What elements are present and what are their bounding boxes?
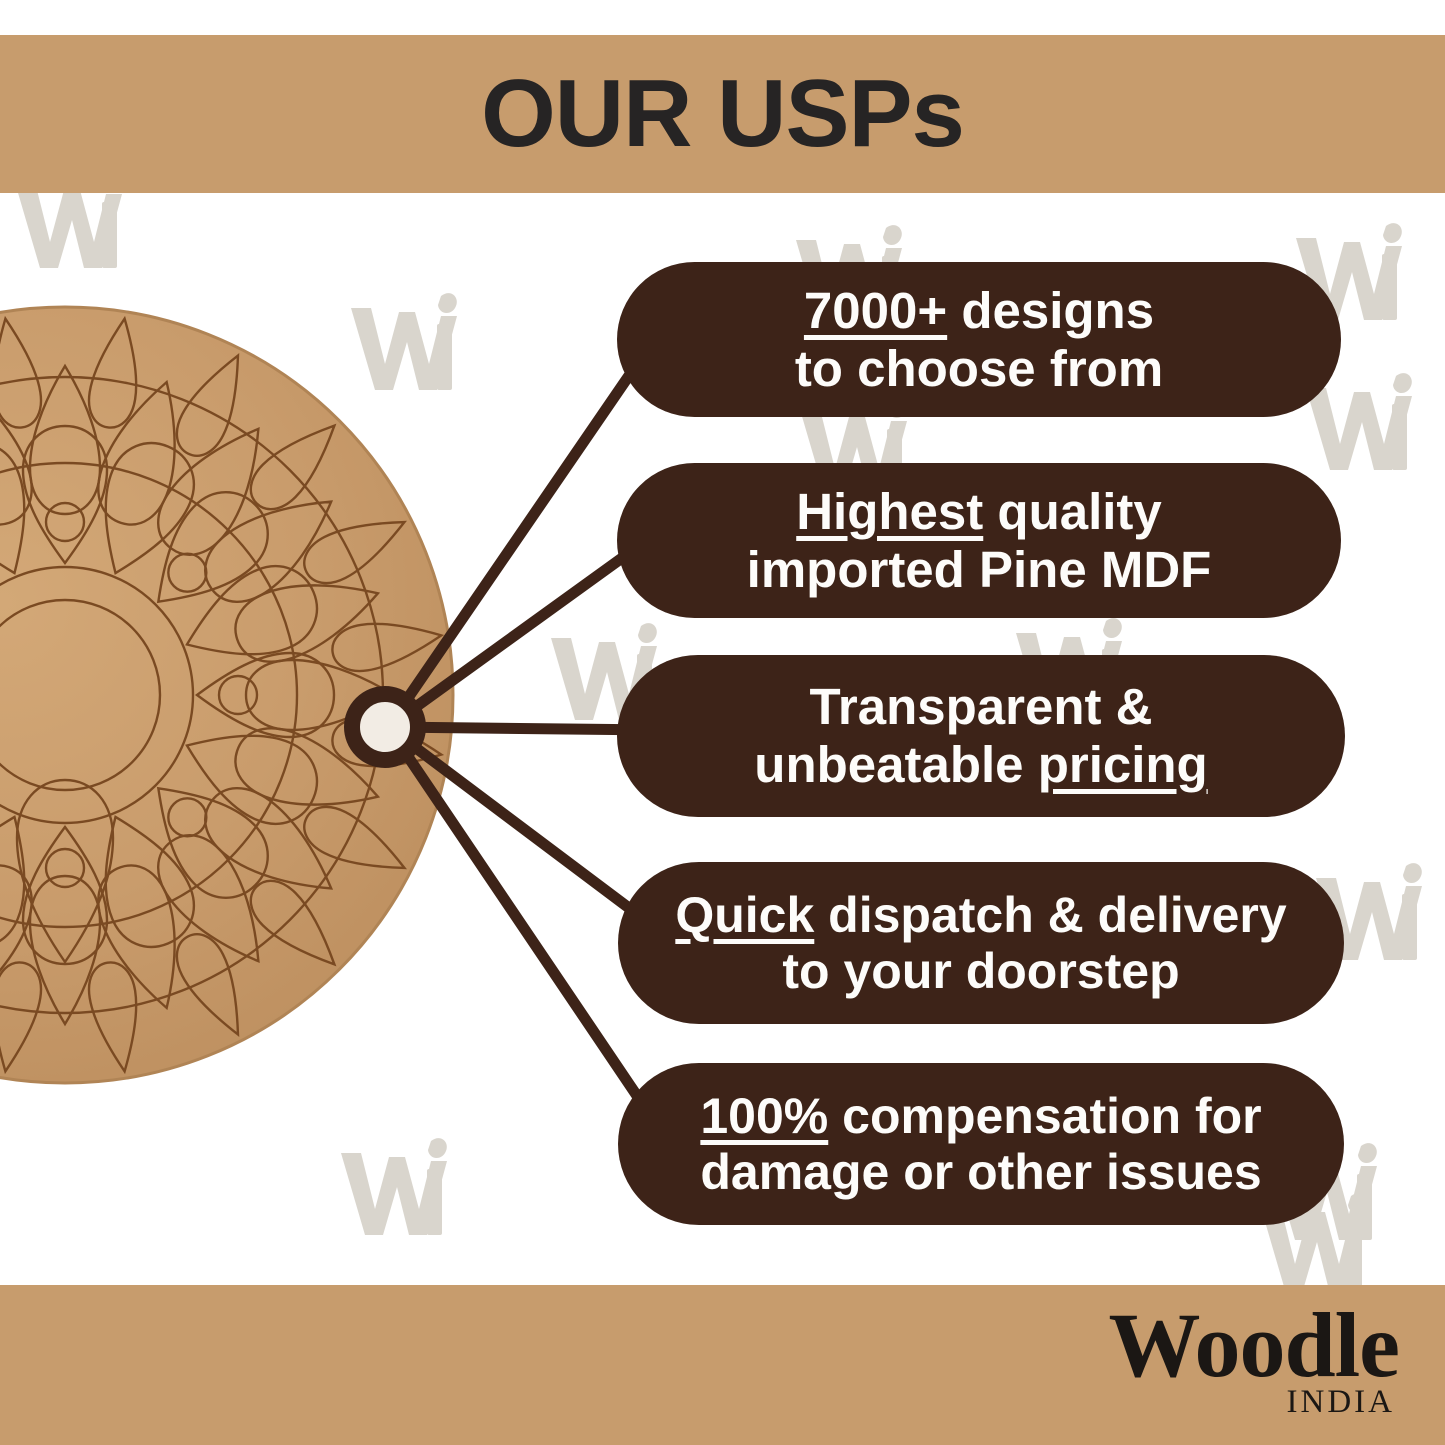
usp-line-2: to your doorstep bbox=[782, 943, 1179, 1000]
usp-line-2: unbeatable pricing bbox=[754, 736, 1207, 794]
usp-line-1: Highest quality bbox=[796, 483, 1162, 541]
usp-pill-compensation[interactable]: 100% compensation for damage or other is… bbox=[618, 1063, 1344, 1225]
usp-line-2: damage or other issues bbox=[700, 1144, 1261, 1201]
connector-hub bbox=[352, 694, 418, 760]
usp-pill-material-quality[interactable]: Highest quality imported Pine MDF bbox=[617, 463, 1341, 618]
brand-name: Woodle bbox=[1109, 1300, 1399, 1390]
connector-line-2 bbox=[388, 545, 640, 727]
usp-line-2: imported Pine MDF bbox=[747, 541, 1212, 599]
connector-line-5 bbox=[388, 727, 650, 1115]
usp-pill-designs-count[interactable]: 7000+ designs to choose from bbox=[617, 262, 1341, 417]
connector-line-1 bbox=[388, 345, 650, 727]
brand-logo: Woodle INDIA bbox=[1109, 1300, 1399, 1421]
infographic-canvas: OUR USPs Woodle INDIA 7000+ designs to c… bbox=[0, 0, 1445, 1445]
usp-line-1: 100% compensation for bbox=[700, 1088, 1261, 1145]
usp-line-1: 7000+ designs bbox=[804, 282, 1154, 340]
page-title: OUR USPs bbox=[0, 35, 1445, 193]
usp-pill-dispatch-delivery[interactable]: Quick dispatch & delivery to your doorst… bbox=[618, 862, 1344, 1024]
usp-line-1: Transparent & bbox=[810, 678, 1153, 736]
usp-line-1: Quick dispatch & delivery bbox=[675, 887, 1286, 944]
usp-pill-pricing[interactable]: Transparent & unbeatable pricing bbox=[617, 655, 1345, 817]
connector-line-4 bbox=[388, 727, 645, 920]
usp-line-2: to choose from bbox=[795, 340, 1163, 398]
